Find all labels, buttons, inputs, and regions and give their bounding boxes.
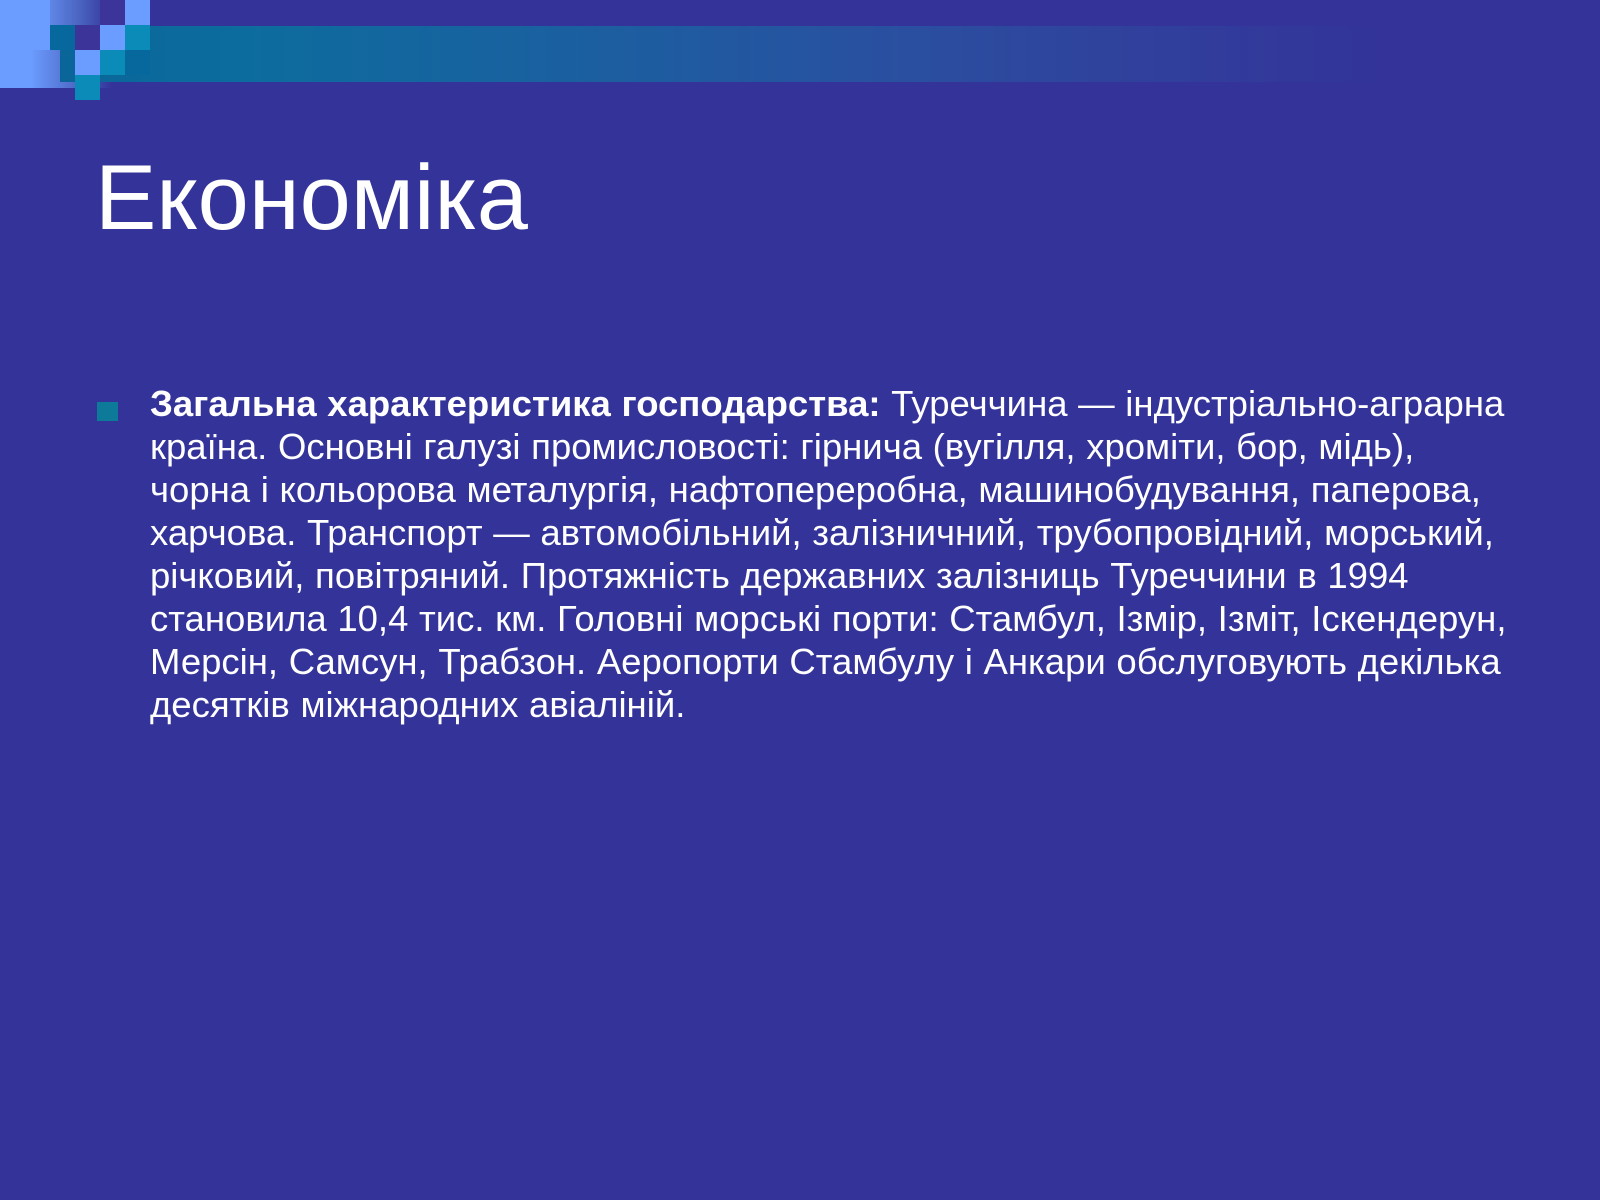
presentation-slide: Економіка Загальна характеристика господ… — [0, 0, 1600, 1200]
decorative-checker-header — [0, 0, 1600, 115]
checker-cell — [25, 0, 50, 25]
checker-cell — [25, 25, 50, 50]
list-item: Загальна характеристика господарства: Ту… — [90, 382, 1520, 726]
bullet-paragraph: Загальна характеристика господарства: Ту… — [150, 382, 1520, 726]
checker-cell — [125, 25, 150, 50]
checker-cell — [125, 50, 150, 75]
checker-cell — [75, 25, 100, 50]
checker-cell — [75, 50, 100, 75]
checker-cell — [100, 0, 125, 25]
checker-cell — [50, 25, 75, 50]
checker-cell — [100, 50, 125, 75]
square-bullet-icon — [97, 402, 118, 421]
left-gradient-wash — [0, 0, 112, 88]
page-title: Економіка — [95, 150, 528, 247]
bullet-body-text: Туреччина — індустріально-аграрна країна… — [150, 383, 1506, 725]
slide-body: Загальна характеристика господарства: Ту… — [90, 345, 1520, 762]
checker-cell — [100, 25, 125, 50]
checker-cell — [125, 0, 150, 25]
teal-header-band — [60, 26, 1380, 82]
checker-cell — [75, 75, 100, 100]
bullet-lead-label: Загальна характеристика господарства: — [150, 383, 881, 424]
